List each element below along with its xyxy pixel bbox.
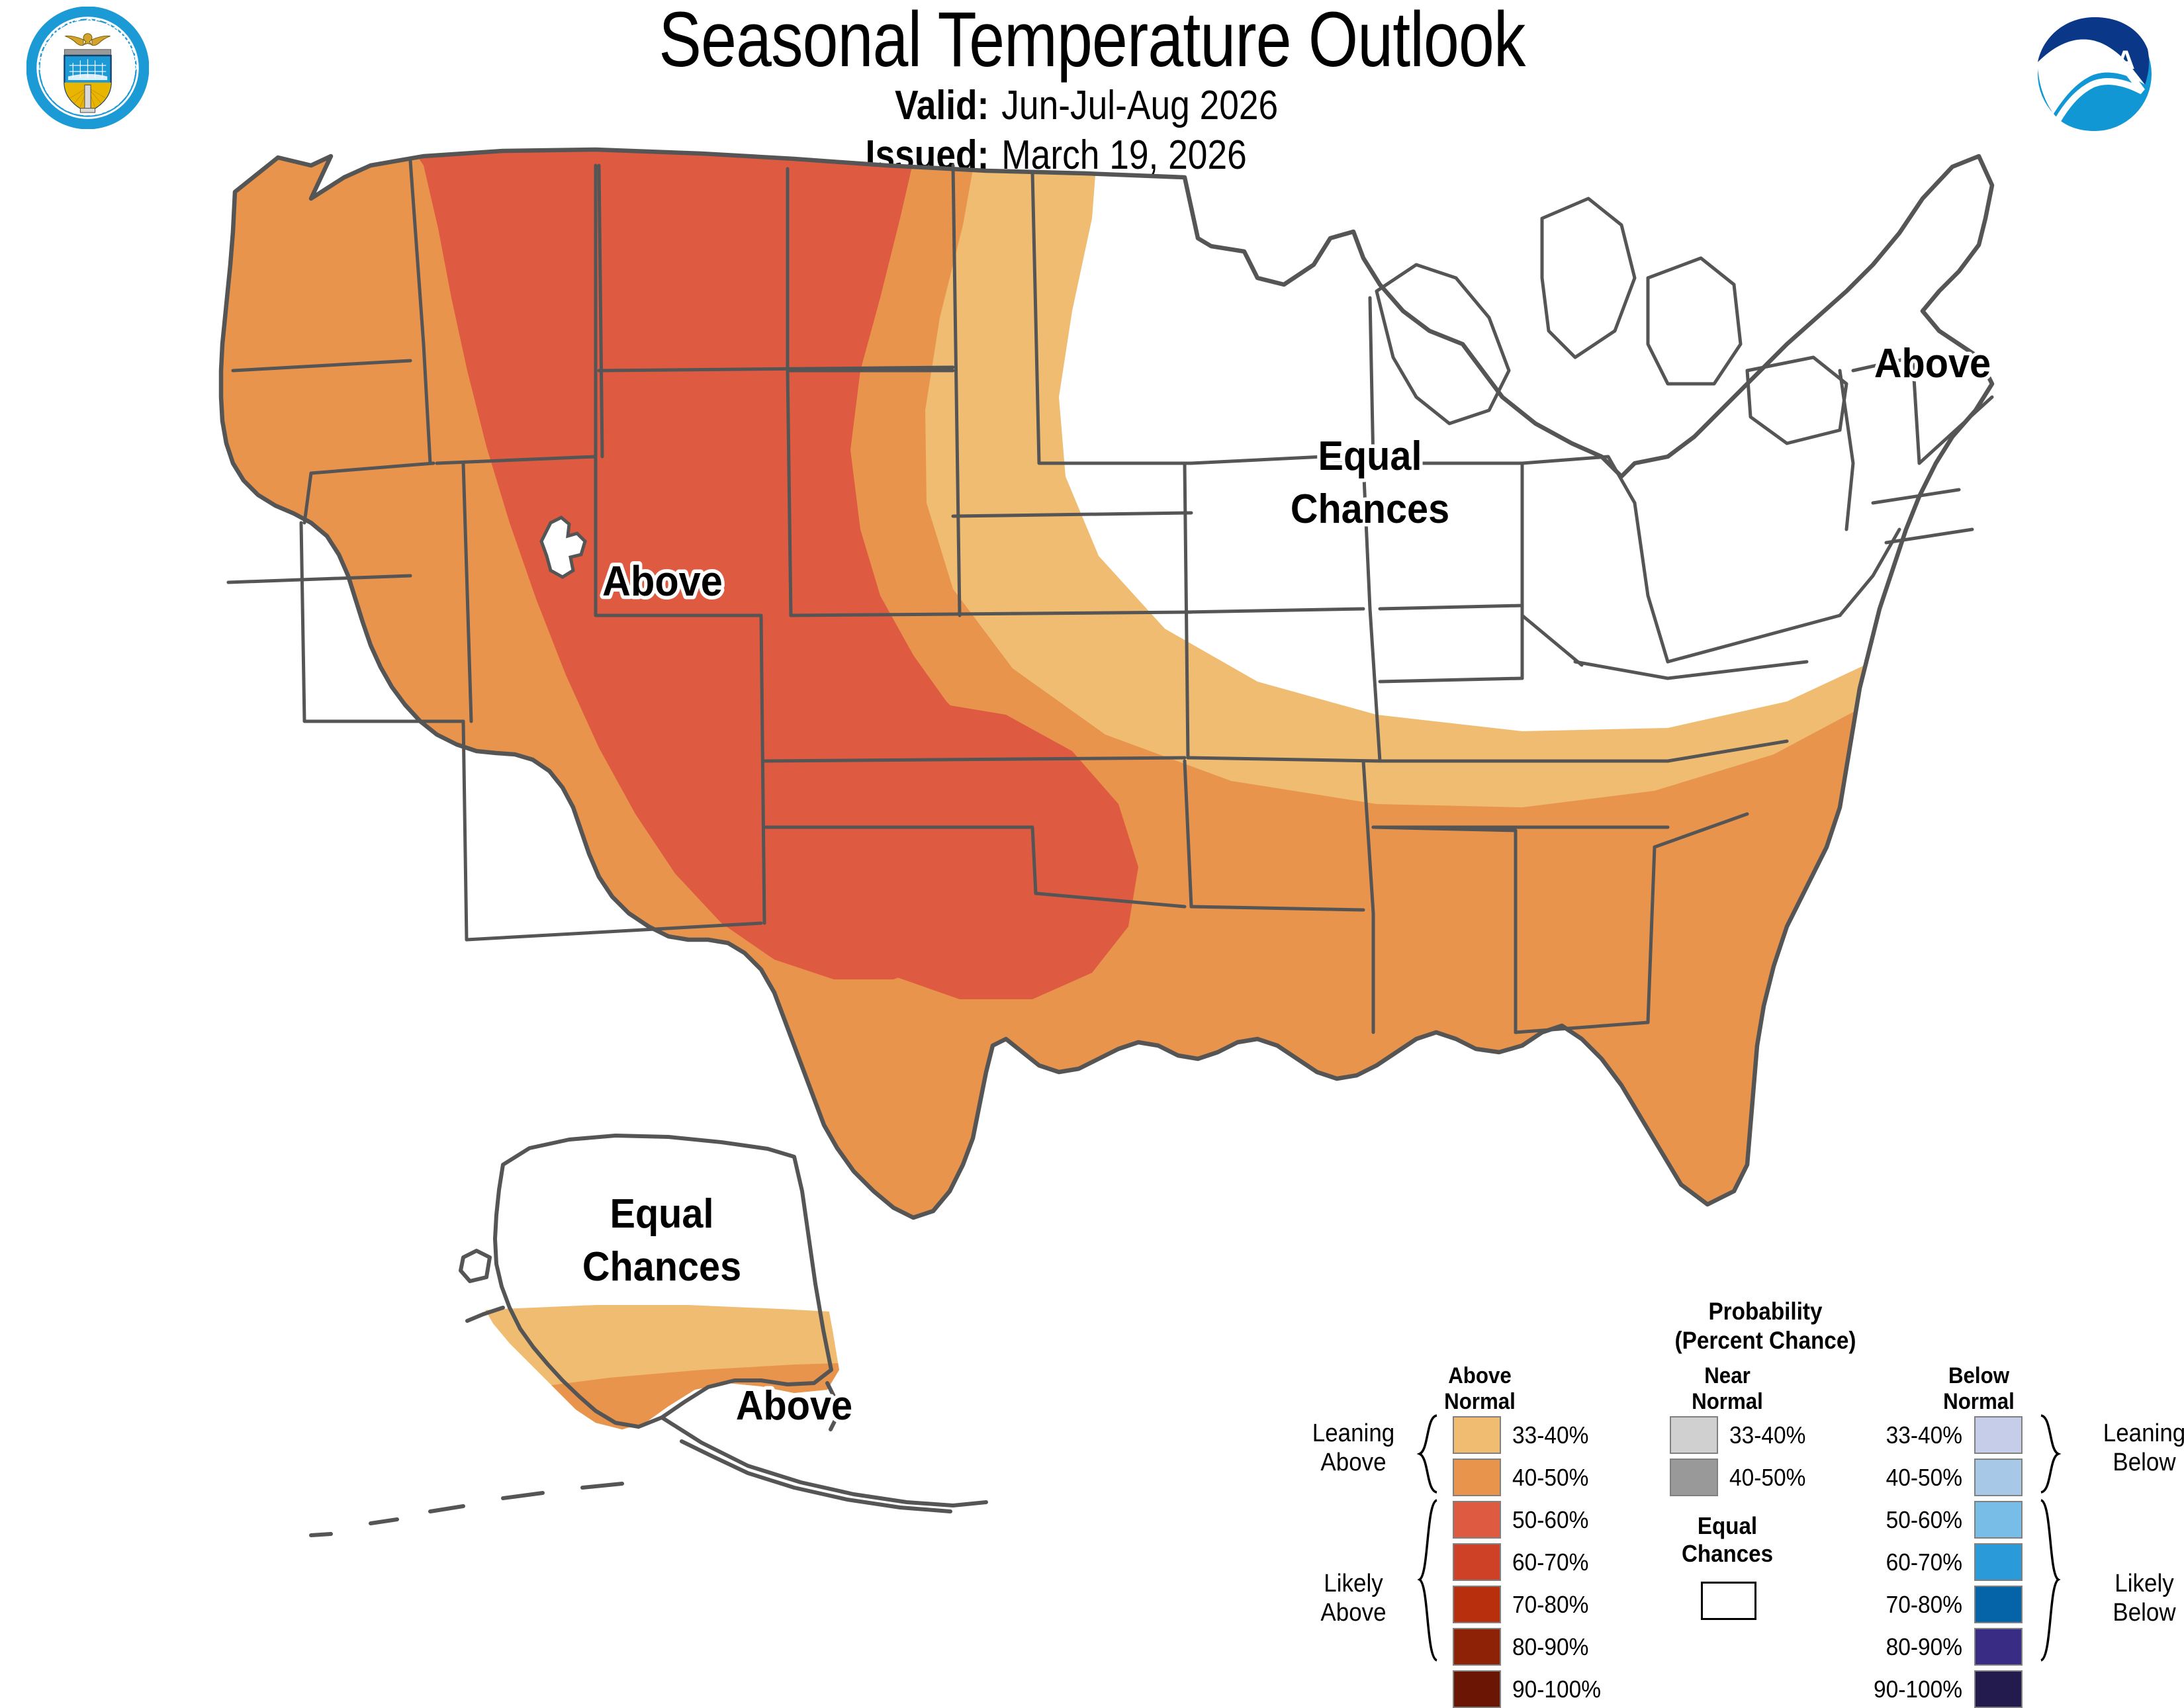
- likely-above-group-label: Likely Above: [1289, 1570, 1417, 1627]
- below-normal-swatch-90-100%: [1974, 1670, 2023, 1708]
- above-normal-swatch-50-60%: [1453, 1501, 1501, 1539]
- above-normal-pct-80-90%: 80-90%: [1512, 1628, 1588, 1666]
- above-normal-swatch-90-100%: [1453, 1670, 1501, 1708]
- leaning-below-brace: [2038, 1413, 2071, 1496]
- alaska-equal-chances-label: Equal: [610, 1191, 714, 1236]
- below-normal-l1: Below: [1921, 1363, 2037, 1389]
- above-normal-pct-33-40%: 33-40%: [1512, 1416, 1588, 1454]
- above-normal-swatch-70-80%: [1453, 1586, 1501, 1623]
- leaning-above-group-label: Leaning Above: [1289, 1419, 1417, 1477]
- conus-northeast-above-label: Above: [1874, 340, 1991, 386]
- below-normal-swatch-33-40%: [1974, 1416, 2023, 1454]
- svg-text:Chances: Chances: [582, 1243, 741, 1289]
- probability-legend: Probability (Percent Chance) Above Norma…: [1367, 1297, 2164, 1684]
- above-normal-pct-70-80%: 70-80%: [1512, 1586, 1588, 1623]
- likely-below-brace: [2038, 1498, 2071, 1663]
- below-normal-swatch-60-70%: [1974, 1543, 2023, 1581]
- below-normal-swatch-80-90%: [1974, 1628, 2023, 1666]
- legend-col-head-above: Above Normal: [1422, 1363, 1538, 1416]
- near-normal-swatch-33-40%: [1670, 1416, 1718, 1454]
- svg-text:Chances: Chances: [1291, 486, 1449, 531]
- above-normal-pct-90-100%: 90-100%: [1512, 1670, 1601, 1708]
- above-normal-swatch-60-70%: [1453, 1543, 1501, 1581]
- below-normal-pct-50-60%: 50-60%: [1839, 1501, 1962, 1539]
- above-normal-pct-40-50%: 40-50%: [1512, 1459, 1588, 1496]
- likely-below-group-label: Likely Below: [2080, 1570, 2184, 1627]
- leaning-below-group-label: Leaning Below: [2080, 1419, 2184, 1477]
- near-normal-pct-33-40%: 33-40%: [1729, 1416, 1805, 1454]
- near-normal-l2: Normal: [1670, 1389, 1786, 1415]
- above-normal-swatch-80-90%: [1453, 1628, 1501, 1666]
- legend-equal-chances-swatch: [1701, 1582, 1756, 1620]
- above-normal-pct-60-70%: 60-70%: [1512, 1543, 1588, 1581]
- likely-above-brace: [1406, 1498, 1439, 1663]
- conus-midwest-equal-chances-label: Equal: [1318, 433, 1422, 478]
- below-normal-swatch-40-50%: [1974, 1459, 2023, 1496]
- below-normal-swatch-50-60%: [1974, 1501, 2023, 1539]
- below-normal-pct-90-100%: 90-100%: [1839, 1670, 1962, 1708]
- legend-col-head-near: Near Normal: [1670, 1363, 1786, 1416]
- below-normal-pct-60-70%: 60-70%: [1839, 1543, 1962, 1581]
- alaska-above-label: Above: [736, 1382, 852, 1428]
- below-normal-pct-33-40%: 33-40%: [1839, 1416, 1962, 1454]
- conus-west-above-label: Above: [602, 558, 723, 605]
- near-normal-swatch-40-50%: [1670, 1459, 1718, 1496]
- near-normal-l1: Near: [1670, 1363, 1786, 1389]
- legend-title: Probability (Percent Chance): [1406, 1297, 2124, 1355]
- below-normal-swatch-70-80%: [1974, 1586, 2023, 1623]
- below-normal-pct-40-50%: 40-50%: [1839, 1459, 1962, 1496]
- below-normal-pct-80-90%: 80-90%: [1839, 1628, 1962, 1666]
- conus-probability-bands: [0, 0, 2184, 1324]
- leaning-above-brace: [1406, 1413, 1439, 1496]
- legend-col-head-below: Below Normal: [1921, 1363, 2037, 1416]
- above-normal-swatch-33-40%: [1453, 1416, 1501, 1454]
- above-normal-pct-50-60%: 50-60%: [1512, 1501, 1588, 1539]
- above-normal-l2: Normal: [1422, 1389, 1538, 1415]
- below-normal-l2: Normal: [1921, 1389, 2037, 1415]
- legend-title-line2: (Percent Chance): [1406, 1326, 2124, 1355]
- near-normal-pct-40-50%: 40-50%: [1729, 1459, 1805, 1496]
- above-normal-l1: Above: [1422, 1363, 1538, 1389]
- below-normal-pct-70-80%: 70-80%: [1839, 1586, 1962, 1623]
- above-normal-swatch-40-50%: [1453, 1459, 1501, 1496]
- legend-equal-chances-label: Equal Chances: [1657, 1512, 1797, 1568]
- legend-title-line1: Probability: [1406, 1297, 2124, 1326]
